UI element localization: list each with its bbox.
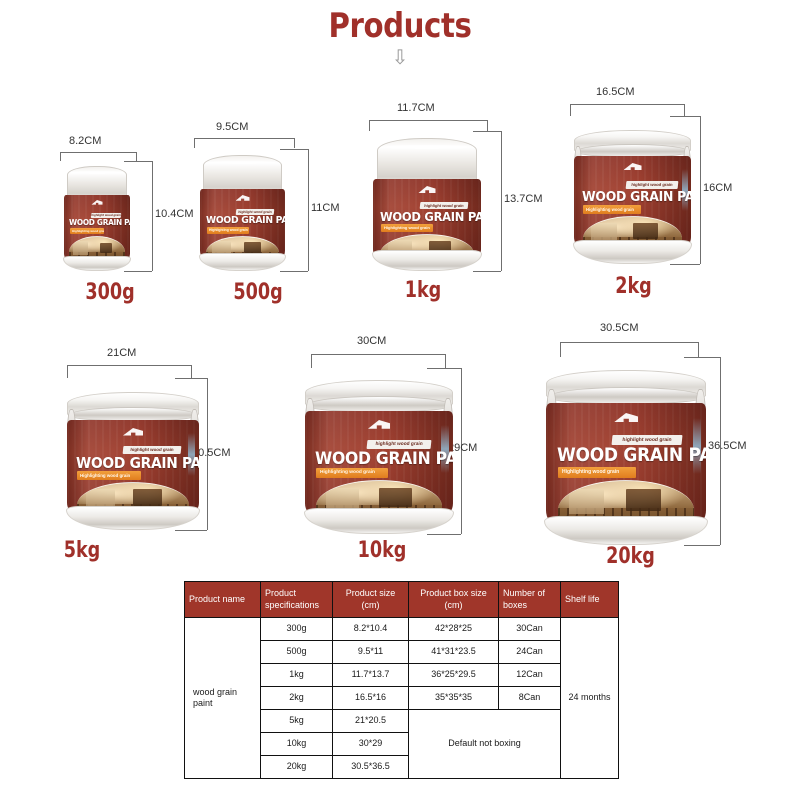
weight-label-2kg: 2kg <box>548 274 720 299</box>
dim-top-tick-right <box>698 342 699 357</box>
dim-top-line <box>194 138 294 139</box>
brand-logo-icon <box>624 163 642 175</box>
dim-right-line <box>700 116 701 264</box>
product-500g: 9.5CM 11CM highlight wood grain WOOD GRA… <box>178 110 338 310</box>
brand-logo-icon <box>368 420 390 435</box>
badge-highlighting-wood-grain: Highlighting wood grain <box>70 228 104 234</box>
dim-width-label: 30.5CM <box>600 322 639 334</box>
bucket-20kg: highlight wood grain WOOD GRAIN PAINT Hi… <box>546 370 706 545</box>
bucket-base <box>544 516 707 545</box>
dim-top-tick-left <box>311 354 312 368</box>
cell-product-name: wood grain paint <box>185 618 261 779</box>
cell-size: 30.5*36.5 <box>333 756 409 779</box>
badge-highlight-wood-grain: highlight wood grain <box>420 202 469 209</box>
bucket-body: highlight wood grain WOOD GRAIN PAINT Hi… <box>67 420 199 514</box>
dim-right-top-tick <box>175 378 207 379</box>
bucket-10kg: highlight wood grain WOOD GRAIN PAINT Hi… <box>305 380 453 534</box>
dim-top-line <box>67 365 191 366</box>
badge-highlight-wood-grain: highlight wood grain <box>626 181 679 189</box>
cell-spec: 5kg <box>261 710 333 733</box>
badge-highlight-wood-grain: highlight wood grain <box>611 435 682 445</box>
bucket-2kg: highlight wood grain WOOD GRAIN PAINT Hi… <box>574 130 691 264</box>
product-title: WOOD GRAIN PAINT <box>315 449 453 469</box>
dim-top-tick-right <box>487 120 488 131</box>
dim-height-label: 16CM <box>703 182 732 194</box>
product-20kg: 30.5CM 36.5CM highlight wood grain WOOD … <box>528 312 793 572</box>
dim-width-label: 8.2CM <box>69 135 101 147</box>
badge-highlighting-wood-grain: Highlighting wood grain <box>558 467 636 478</box>
product-title: WOOD GRAIN PAINT <box>69 218 130 227</box>
dim-width-label: 16.5CM <box>596 86 635 98</box>
bucket-300g: highlight wood grain WOOD GRAIN PAINT Hi… <box>64 166 130 271</box>
dim-right-line <box>152 161 153 271</box>
product-title: WOOD GRAIN PAINT <box>76 454 199 472</box>
table-header-row: Product name Product specifications Prod… <box>185 582 619 618</box>
dim-top-line <box>560 342 698 343</box>
down-arrow-icon: ⇩ <box>0 48 800 68</box>
brand-logo-icon <box>92 200 103 208</box>
dim-right-bottom-tick <box>175 530 207 531</box>
col-product-name: Product name <box>185 582 261 618</box>
product-2kg: 16.5CM 16CM highlight wood grain WOOD GR… <box>548 82 763 310</box>
col-shelf-life: Shelf life <box>561 582 619 618</box>
brand-logo-icon <box>236 195 250 205</box>
brand-logo-icon <box>419 186 436 198</box>
badge-highlight-wood-grain: highlight wood grain <box>123 446 182 454</box>
dim-top-tick-left <box>67 365 68 378</box>
cell-spec: 300g <box>261 618 333 641</box>
cell-size: 9.5*11 <box>333 641 409 664</box>
cell-box-size: 42*28*25 <box>409 618 499 641</box>
bucket-5kg: highlight wood grain WOOD GRAIN PAINT Hi… <box>67 392 199 530</box>
table-row: wood grain paint 300g 8.2*10.4 42*28*25 … <box>185 618 619 641</box>
col-product-size: Product size (cm) <box>333 582 409 618</box>
dim-top-line <box>570 104 684 105</box>
dim-top-line <box>311 354 445 355</box>
dim-width-label: 11.7CM <box>397 102 435 114</box>
dim-top-tick-left <box>369 120 370 131</box>
cell-boxes: 30Can <box>499 618 561 641</box>
dim-right-bottom-tick <box>670 264 700 265</box>
product-5kg: 21CM 20.5CM highlight wood grain WOOD GR… <box>45 340 275 570</box>
cell-spec: 10kg <box>261 733 333 756</box>
dim-top-line <box>369 120 487 121</box>
bucket-body: highlight wood grain WOOD GRAIN PAINT Hi… <box>64 195 130 261</box>
brand-logo-icon <box>614 413 638 429</box>
cell-size: 11.7*13.7 <box>333 664 409 687</box>
cell-spec: 20kg <box>261 756 333 779</box>
product-10kg: 30CM 29CM highlight wood grain WOOD GRAI… <box>285 322 535 572</box>
bucket-1kg: highlight wood grain WOOD GRAIN PAINT Hi… <box>373 138 481 271</box>
product-title: WOOD GRAIN PAINT <box>557 445 706 466</box>
pail-rim-ring <box>68 407 197 421</box>
dim-height-label: 36.5CM <box>708 440 747 452</box>
cell-boxes: 24Can <box>499 641 561 664</box>
cell-box-size: 35*35*35 <box>409 687 499 710</box>
cell-size: 16.5*16 <box>333 687 409 710</box>
dim-width-label: 9.5CM <box>216 121 248 133</box>
product-1kg: 11.7CM 13.7CM highlight wood grain WOOD … <box>345 85 525 310</box>
bucket-body: highlight wood grain WOOD GRAIN PAINT Hi… <box>574 156 691 248</box>
col-product-box-size: Product box size (cm) <box>409 582 499 618</box>
product-300g: 8.2CM 10.4CM highlight wood grain WOOD G… <box>40 130 180 310</box>
dim-top-tick-left <box>570 104 571 116</box>
bucket-base <box>63 256 130 271</box>
dim-right-top-tick <box>684 357 720 358</box>
dim-top-tick-right <box>294 138 295 148</box>
bucket-base <box>573 240 692 264</box>
cell-size: 30*29 <box>333 733 409 756</box>
badge-highlighting-wood-grain: Highlighting wood grain <box>583 205 641 214</box>
dim-width-label: 30CM <box>357 335 386 347</box>
dim-right-line <box>501 131 502 271</box>
product-title: WOOD GRAIN PAINT <box>582 189 691 205</box>
badge-highlighting-wood-grain: Highlighting wood grain <box>381 224 433 232</box>
dim-top-tick-left <box>194 138 195 148</box>
dim-height-label: 13.7CM <box>504 193 543 205</box>
badge-highlight-wood-grain: highlight wood grain <box>367 440 432 449</box>
dim-right-top-tick <box>280 149 308 150</box>
badge-highlighting-wood-grain: Highlighting wood grain <box>316 468 388 478</box>
cell-box-size: 36*25*29.5 <box>409 664 499 687</box>
dim-top-tick-left <box>560 342 561 357</box>
dim-right-top-tick <box>473 131 501 132</box>
dim-right-bottom-tick <box>427 534 461 535</box>
bucket-body: highlight wood grain WOOD GRAIN PAINT Hi… <box>200 189 285 259</box>
dim-right-bottom-tick <box>124 271 152 272</box>
col-product-specs: Product specifications <box>261 582 333 618</box>
dim-width-label: 21CM <box>107 347 136 359</box>
cell-boxes: 8Can <box>499 687 561 710</box>
dim-top-tick-right <box>684 104 685 116</box>
bucket-body: highlight wood grain WOOD GRAIN PAINT Hi… <box>373 179 481 259</box>
dim-top-line <box>60 152 136 153</box>
bucket-body: highlight wood grain WOOD GRAIN PAINT Hi… <box>305 411 453 516</box>
weight-label-1kg: 1kg <box>351 278 495 303</box>
weight-label-5kg: 5kg <box>0 538 174 563</box>
brand-logo-icon <box>123 428 143 441</box>
bucket-base <box>66 506 201 530</box>
weight-label-10kg: 10kg <box>282 538 482 563</box>
dim-right-top-tick <box>427 368 461 369</box>
weight-label-300g: 300g <box>54 280 166 305</box>
pail-rim-ring <box>306 396 451 412</box>
cell-boxes: 12Can <box>499 664 561 687</box>
bucket-base <box>199 253 286 271</box>
product-title: WOOD GRAIN PAINT <box>206 215 285 226</box>
cell-default-not-boxing: Default not boxing <box>409 710 561 779</box>
dim-top-tick-right <box>191 365 192 378</box>
badge-highlighting-wood-grain: Highlighting wood grain <box>77 471 141 480</box>
col-number-of-boxes: Number of boxes <box>499 582 561 618</box>
product-title: WOOD GRAIN PAINT <box>380 209 481 224</box>
cell-spec: 2kg <box>261 687 333 710</box>
bucket-body: highlight wood grain WOOD GRAIN PAINT Hi… <box>546 403 706 525</box>
dim-top-tick-right <box>136 152 137 161</box>
weight-label-20kg: 20kg <box>525 544 737 569</box>
dim-right-line <box>308 149 309 271</box>
bucket-base <box>372 250 482 271</box>
weight-label-500g: 500g <box>194 280 322 305</box>
cell-size: 21*20.5 <box>333 710 409 733</box>
dim-height-label: 11CM <box>311 202 340 214</box>
product-spec-table: Product name Product specifications Prod… <box>184 581 619 779</box>
cell-size: 8.2*10.4 <box>333 618 409 641</box>
dim-top-tick-right <box>445 354 446 368</box>
dim-top-tick-left <box>60 152 61 161</box>
badge-highlighting-wood-grain: Highlighting wood grain <box>207 227 249 234</box>
dim-right-top-tick <box>670 116 700 117</box>
dim-right-top-tick <box>124 161 152 162</box>
bucket-500g: highlight wood grain WOOD GRAIN PAINT Hi… <box>200 155 285 271</box>
bucket-base <box>304 508 455 534</box>
cell-box-size: 41*31*23.5 <box>409 641 499 664</box>
dim-right-bottom-tick <box>280 271 308 272</box>
cell-spec: 500g <box>261 641 333 664</box>
pail-rim-ring <box>548 387 705 404</box>
cell-shelf-life: 24 months <box>561 618 619 779</box>
page-title: Products <box>56 6 744 46</box>
dim-right-bottom-tick <box>473 271 501 272</box>
cell-spec: 1kg <box>261 664 333 687</box>
